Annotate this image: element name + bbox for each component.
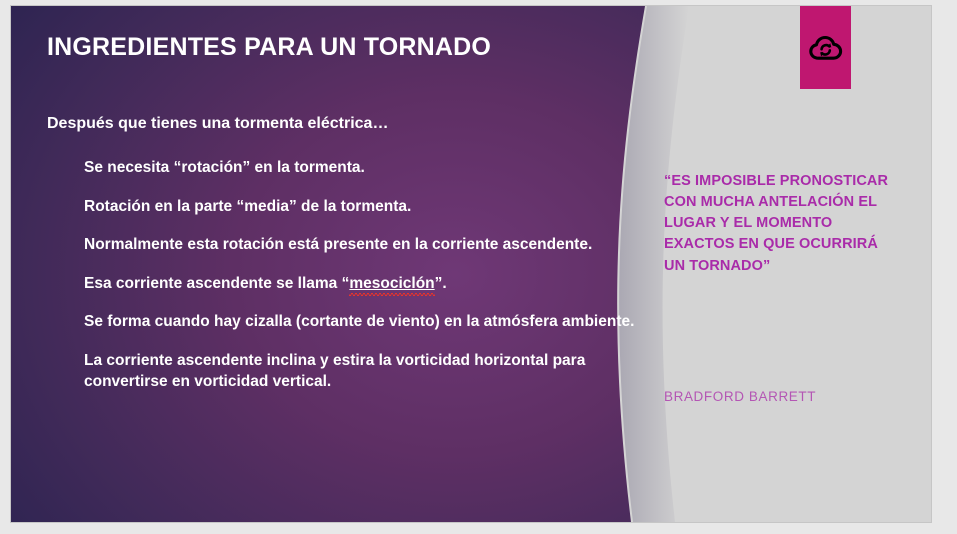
quote-text: “ES IMPOSIBLE PRONOSTICAR CON MUCHA ANTE…	[664, 171, 896, 277]
bullet-list: Se necesita “rotación” en la tormenta. R…	[84, 158, 644, 392]
quote-attribution: BRADFORD BARRETT	[664, 389, 914, 404]
presentation-slide: INGREDIENTES PARA UN TORNADO Después que…	[0, 0, 957, 534]
cloud-sync-icon	[809, 34, 843, 62]
list-item-mesociclon: Esa corriente ascendente se llama “mesoc…	[84, 274, 644, 295]
list-item: Se necesita “rotación” en la tormenta.	[84, 158, 644, 179]
misspelled-word: mesociclón	[349, 275, 434, 292]
list-item-text-after: ”.	[435, 275, 447, 292]
list-item: Rotación en la parte “media” de la torme…	[84, 197, 644, 218]
page-title: INGREDIENTES PARA UN TORNADO	[47, 33, 627, 62]
lead-statement: Después que tienes una tormenta eléctric…	[47, 114, 627, 133]
list-item: La corriente ascendente inclina y estira…	[84, 351, 644, 392]
slide-canvas: INGREDIENTES PARA UN TORNADO Después que…	[11, 6, 931, 522]
list-item-text-before: Esa corriente ascendente se llama “	[84, 275, 349, 292]
list-item: Se forma cuando hay cizalla (cortante de…	[84, 312, 644, 333]
quote-block: “ES IMPOSIBLE PRONOSTICAR CON MUCHA ANTE…	[664, 171, 896, 277]
left-text-column: INGREDIENTES PARA UN TORNADO Después que…	[36, 6, 636, 522]
list-item: Normalmente esta rotación está presente …	[84, 235, 644, 256]
logo-chip	[800, 6, 851, 89]
